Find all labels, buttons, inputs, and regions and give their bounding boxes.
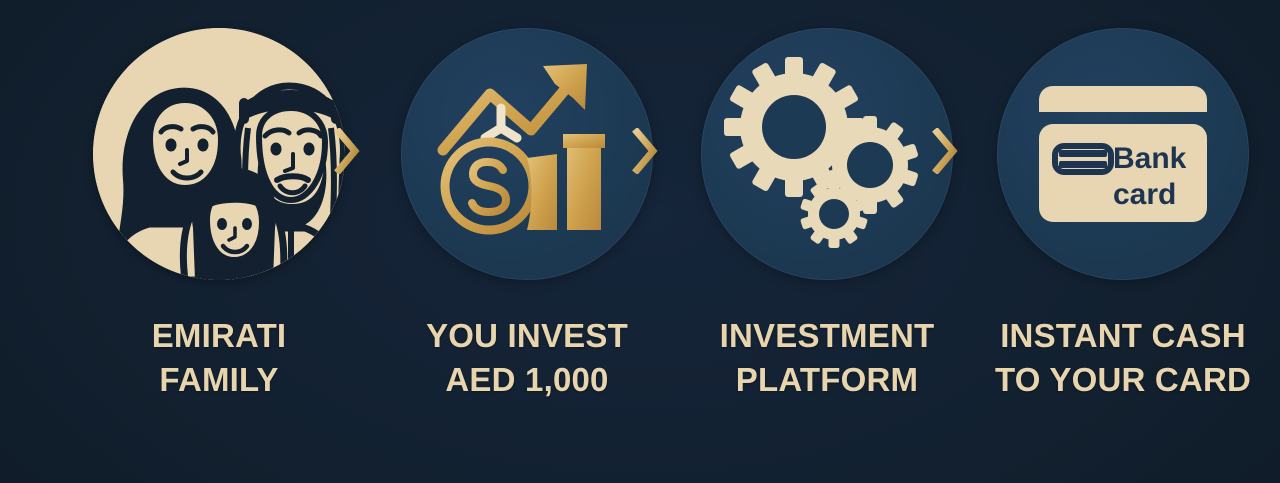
step-instant-cash: Bank card INSTANT CASH TO YOUR CARD	[997, 0, 1249, 401]
steps-row: EMIRATI FAMILY	[0, 0, 1280, 483]
caption-line-1: INVESTMENT	[720, 314, 935, 358]
emirati-family-icon	[93, 28, 345, 280]
caption-line-2: TO YOUR CARD	[995, 358, 1251, 402]
bank-card-icon: Bank card	[997, 28, 1249, 280]
gears-platform-icon	[701, 28, 953, 280]
investment-growth-chart-icon	[401, 28, 653, 280]
caption-line-1: EMIRATI	[152, 314, 287, 358]
caption-line-2: AED 1,000	[426, 358, 628, 402]
bank-card-label-line-1: Bank	[1113, 142, 1187, 175]
chevron-right-icon-1	[334, 128, 360, 174]
step-caption: INVESTMENT PLATFORM	[720, 314, 935, 401]
bank-card-label-line-2: card	[1113, 178, 1176, 211]
caption-line-1: YOU INVEST	[426, 314, 628, 358]
step-caption: YOU INVEST AED 1,000	[426, 314, 628, 401]
step-you-invest: YOU INVEST AED 1,000	[401, 0, 653, 401]
chevron-right-icon-3	[932, 128, 958, 174]
caption-line-2: FAMILY	[152, 358, 287, 402]
step-caption: EMIRATI FAMILY	[152, 314, 287, 401]
step-caption: INSTANT CASH TO YOUR CARD	[995, 314, 1251, 401]
caption-line-2: PLATFORM	[720, 358, 935, 402]
investment-flow-infographic: EMIRATI FAMILY	[0, 0, 1280, 483]
chevron-right-icon-2	[632, 128, 658, 174]
step-emirati-family: EMIRATI FAMILY	[93, 0, 345, 401]
step-investment-platform: INVESTMENT PLATFORM	[701, 0, 953, 401]
caption-line-1: INSTANT CASH	[995, 314, 1251, 358]
